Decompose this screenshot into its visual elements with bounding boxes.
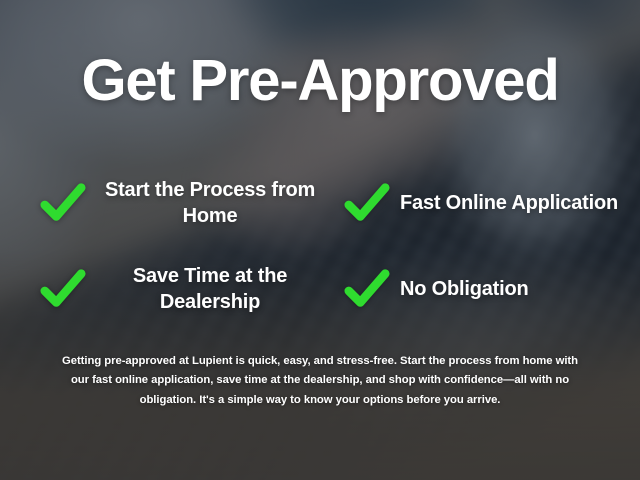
pre-approval-banner: Get Pre-Approved Start the Process from … bbox=[0, 0, 640, 480]
check-icon bbox=[40, 180, 86, 226]
feature-item-no-obligation: No Obligation bbox=[334, 246, 618, 332]
page-title: Get Pre-Approved bbox=[0, 52, 640, 110]
feature-label: Start the Process from Home bbox=[96, 177, 324, 229]
feature-item-fast-application: Fast Online Application bbox=[334, 160, 618, 246]
check-icon bbox=[40, 266, 86, 312]
feature-item-start-process: Start the Process from Home bbox=[40, 160, 324, 246]
check-icon bbox=[344, 180, 390, 226]
feature-list: Start the Process from Home Fast Online … bbox=[40, 160, 618, 332]
feature-label: Save Time at the Dealership bbox=[96, 263, 324, 315]
banner-content: Get Pre-Approved Start the Process from … bbox=[0, 0, 640, 480]
feature-label: Fast Online Application bbox=[400, 190, 618, 216]
feature-item-save-time: Save Time at the Dealership bbox=[40, 246, 324, 332]
feature-label: No Obligation bbox=[400, 276, 529, 302]
check-icon bbox=[344, 266, 390, 312]
body-paragraph: Getting pre-approved at Lupient is quick… bbox=[52, 352, 588, 410]
